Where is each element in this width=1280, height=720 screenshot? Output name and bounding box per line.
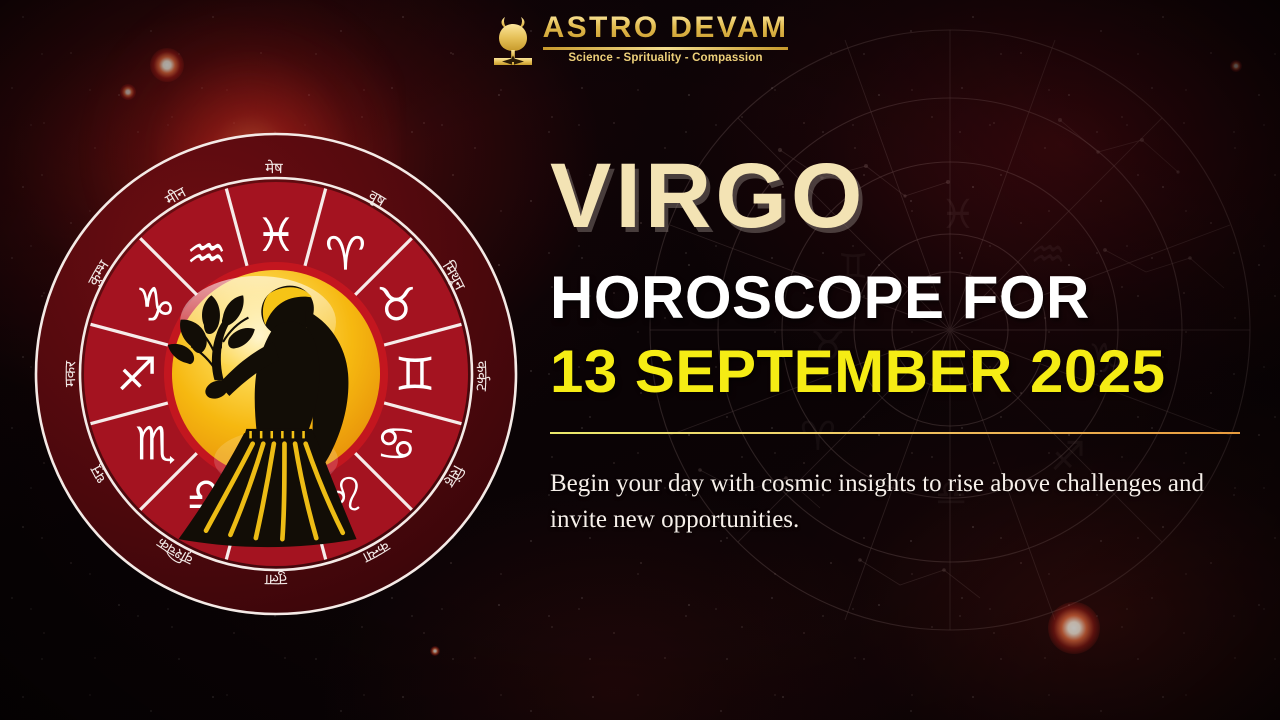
gold-divider [550, 432, 1240, 434]
subtitle-text: Begin your day with cosmic insights to r… [550, 466, 1222, 537]
brand-tagline: Science - Sprituality - Compassion [543, 53, 789, 65]
svg-text:तुला: तुला [264, 570, 288, 589]
svg-text:मेष: मेष [265, 159, 283, 177]
kalash-crescent-icon [492, 10, 534, 68]
wheel-label-capricorn: मकर [61, 360, 79, 388]
zodiac-wheel[interactable]: मेष वृष मिथुन कर्कट सिंह कन्या तुला वृश्… [28, 126, 524, 622]
svg-text:मकर: मकर [61, 360, 79, 388]
horoscope-date: 13 SEPTEMBER 2025 [550, 342, 1250, 402]
gemini-glyph-icon: ♊ [394, 347, 435, 401]
sagittarius-archer-icon: ♐ [116, 347, 157, 401]
taurus-bull-icon: ♉ [376, 278, 417, 332]
wheel-label-libra: तुला [264, 570, 288, 589]
wheel-label-cancer: कर्कट [472, 361, 491, 392]
scorpio-scorpion-icon: ♏ [135, 417, 176, 471]
svg-text:कर्कट: कर्कट [472, 361, 491, 392]
cancer-crab-icon: ♋ [376, 417, 417, 471]
pisces-fish-icon: ♓ [255, 208, 296, 262]
wheel-label-aries: मेष [265, 159, 283, 177]
brand-logo[interactable]: ASTRO DEVAM Science - Sprituality - Comp… [0, 10, 1280, 68]
brand-rule [543, 47, 789, 50]
brand-name: ASTRO DEVAM [543, 13, 789, 43]
horoscope-banner: ♓ ♒ ♑ ♐ ♈ ♉ ♊ ♎ [0, 0, 1280, 720]
capricorn-seagoat-icon: ♑ [135, 278, 176, 332]
horoscope-label: HOROSCOPE FOR [550, 268, 1250, 328]
headline-block: VIRGO HOROSCOPE FOR 13 SEPTEMBER 2025 Be… [550, 150, 1250, 537]
aquarius-constellation-icon: ♒ [186, 227, 227, 281]
aries-ram-icon: ♈ [325, 227, 366, 281]
zodiac-sign-title: VIRGO [550, 150, 1250, 242]
